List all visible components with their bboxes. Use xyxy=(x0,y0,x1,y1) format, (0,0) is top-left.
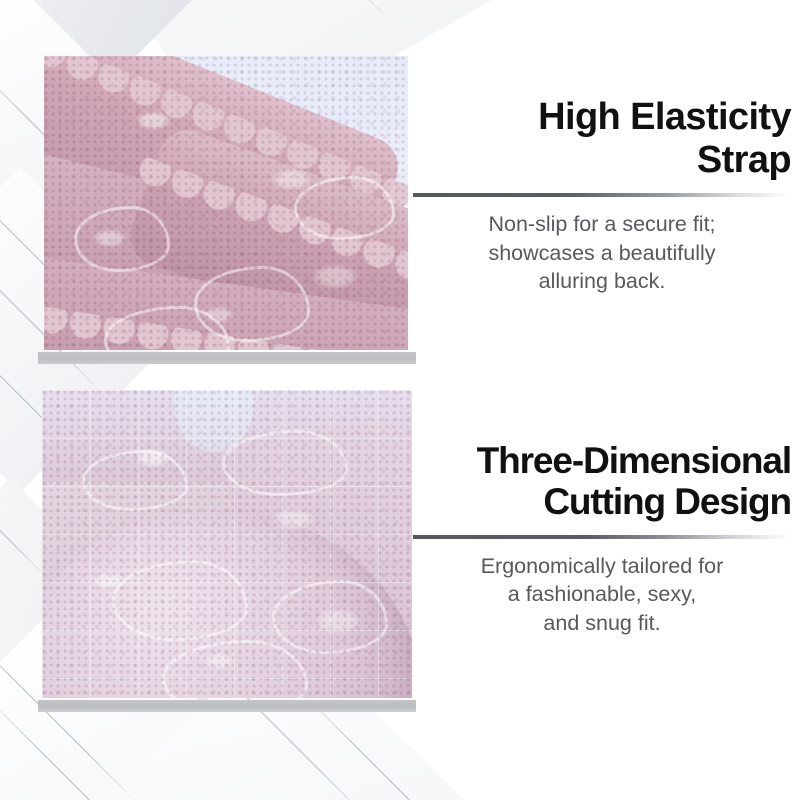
product-photo-cup xyxy=(42,390,412,698)
feature-block-strap: High Elasticity Strap Non-slip for a sec… xyxy=(0,0,800,380)
feature-headline: High Elasticity Strap xyxy=(413,96,791,181)
lace-dot-texture xyxy=(44,56,408,350)
lace-artwork xyxy=(42,390,412,698)
feature-block-cutting: Three-Dimensional Cutting Design Ergonom… xyxy=(0,380,800,780)
infographic-canvas: High Elasticity Strap Non-slip for a sec… xyxy=(0,0,800,800)
photo-drop-shadow xyxy=(38,352,416,364)
feature-description: Non-slip for a secure fit; showcases a b… xyxy=(413,197,791,296)
product-photo-strap xyxy=(44,56,408,350)
feature-text-strap: High Elasticity Strap Non-slip for a sec… xyxy=(413,96,791,296)
photo-drop-shadow xyxy=(38,700,416,712)
feature-headline: Three-Dimensional Cutting Design xyxy=(413,440,791,523)
lace-artwork xyxy=(44,56,408,350)
feature-description: Ergonomically tailored for a fashionable… xyxy=(413,539,791,638)
lace-grid-overlay xyxy=(42,390,412,698)
feature-text-cutting: Three-Dimensional Cutting Design Ergonom… xyxy=(413,440,791,638)
